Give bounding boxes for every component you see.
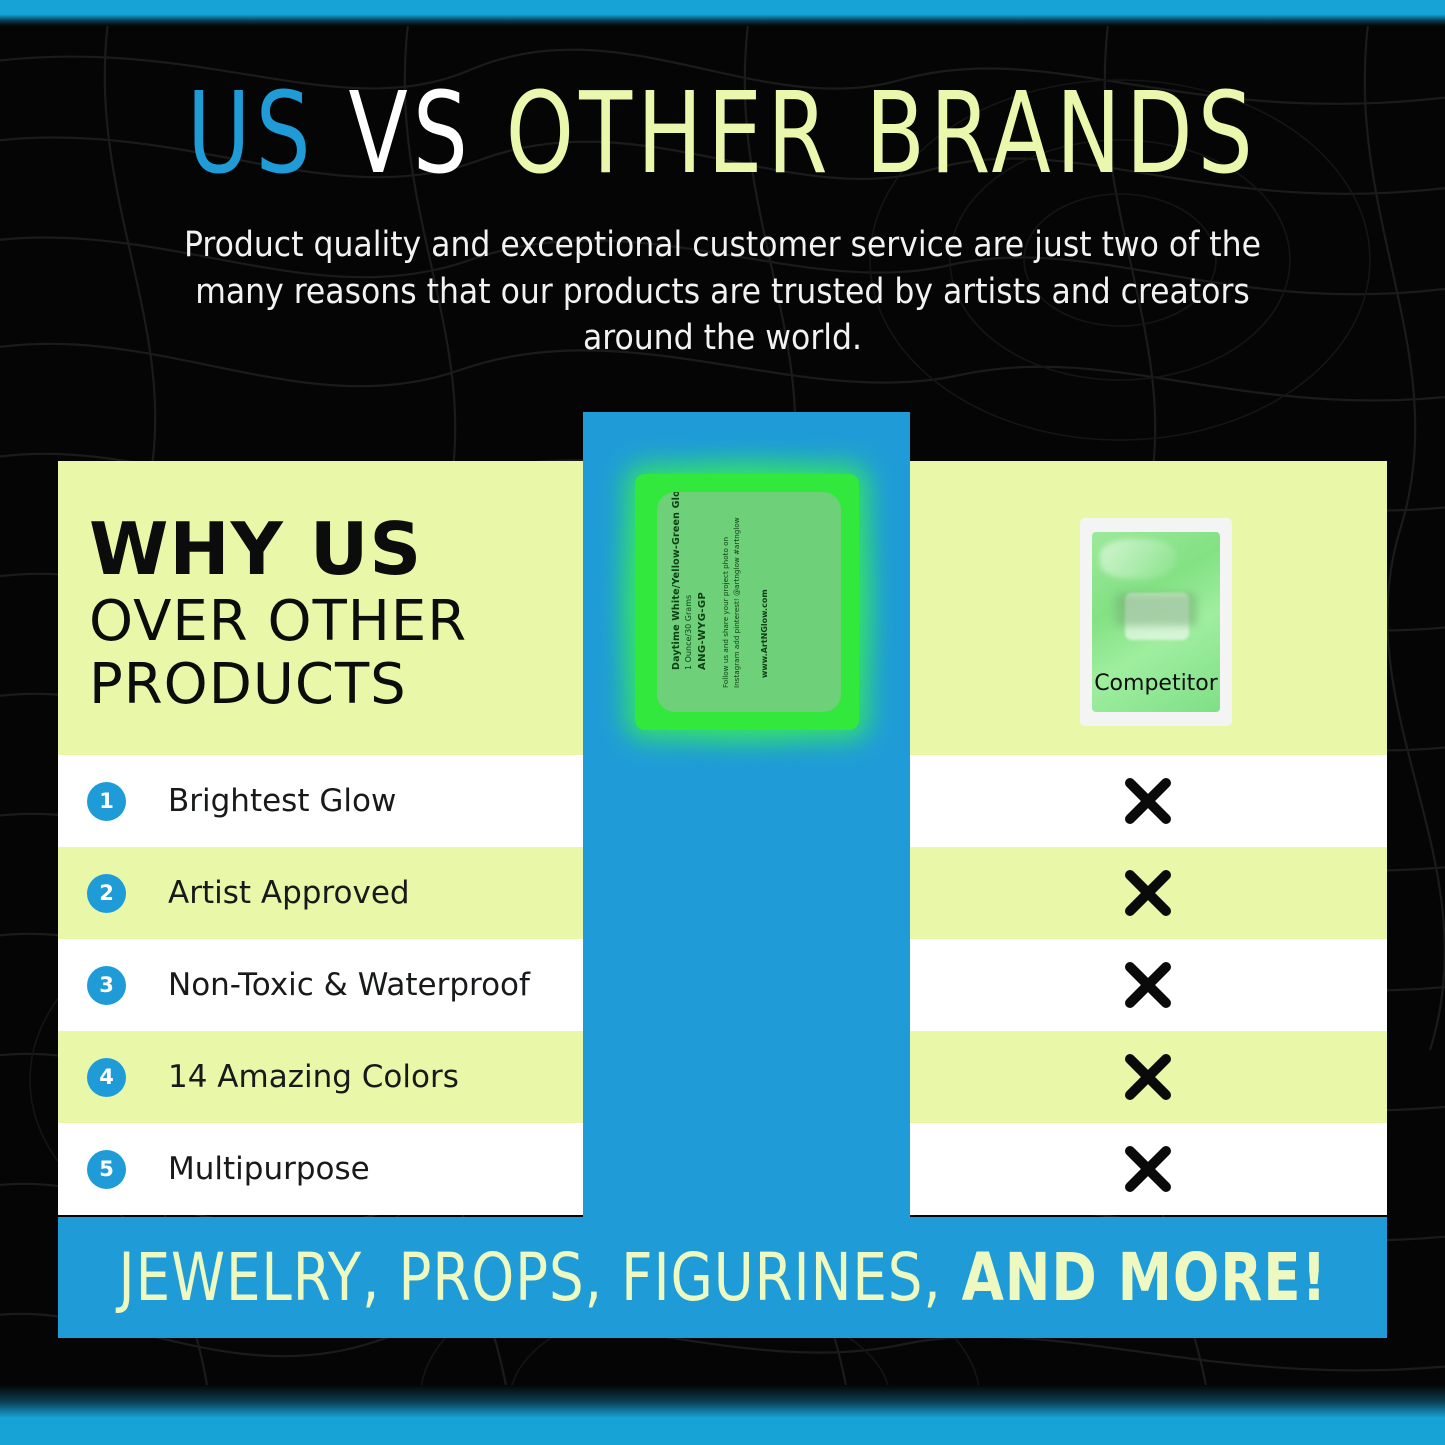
package-weight: 1 Ounce/30 Grams bbox=[684, 595, 693, 670]
our-product-column: Daytime White/Yellow-Green Glow Powder 1… bbox=[583, 412, 910, 1218]
why-us-heading: WHY US OVER OTHER PRODUCTS bbox=[89, 513, 467, 716]
bottom-banner: JEWELRY, PROPS, FIGURINES, AND MORE! bbox=[58, 1217, 1387, 1338]
package-product-name: Daytime White/Yellow-Green Glow Powder bbox=[671, 492, 682, 670]
x-icon bbox=[1121, 774, 1175, 828]
package-website: www.ArtNGlow.com bbox=[760, 589, 769, 678]
package-sku: ANG-WYG-GP bbox=[697, 592, 708, 670]
banner-text: JEWELRY, PROPS, FIGURINES, AND MORE! bbox=[118, 1239, 1327, 1316]
x-icon bbox=[1121, 1050, 1175, 1104]
competitor-x-cell bbox=[1068, 1123, 1228, 1215]
infographic-canvas: US VS OTHER BRANDS Product quality and e… bbox=[0, 0, 1445, 1445]
our-product-image: Daytime White/Yellow-Green Glow Powder 1… bbox=[635, 474, 859, 730]
feature-label: Multipurpose bbox=[168, 1151, 370, 1187]
subtitle: Product quality and exceptional customer… bbox=[163, 222, 1283, 362]
x-icon bbox=[1121, 866, 1175, 920]
title-word-other-brands: OTHER BRANDS bbox=[506, 69, 1258, 199]
package-label-face: Daytime White/Yellow-Green Glow Powder 1… bbox=[657, 492, 841, 712]
row-number-badge: 5 bbox=[87, 1150, 126, 1189]
feature-label: Artist Approved bbox=[168, 875, 410, 911]
competitor-x-cell bbox=[1068, 939, 1228, 1031]
title-word-us: US bbox=[187, 69, 316, 199]
feature-label: Brightest Glow bbox=[168, 783, 396, 819]
banner-text-bold: AND MORE! bbox=[941, 1239, 1327, 1316]
top-accent-bar bbox=[0, 0, 1445, 26]
competitor-product-image: Competitor bbox=[1080, 518, 1232, 726]
feature-label: 14 Amazing Colors bbox=[168, 1059, 459, 1095]
heading-line-over-other: OVER OTHER bbox=[89, 591, 467, 654]
row-number-badge: 4 bbox=[87, 1058, 126, 1097]
page-title: US VS OTHER BRANDS bbox=[101, 78, 1344, 190]
bag-sheen bbox=[1100, 539, 1177, 579]
glow-powder-package: Daytime White/Yellow-Green Glow Powder 1… bbox=[635, 474, 859, 730]
heading-line-why-us: WHY US bbox=[89, 513, 467, 585]
feature-label: Non-Toxic & Waterproof bbox=[168, 967, 530, 1003]
header: US VS OTHER BRANDS Product quality and e… bbox=[0, 78, 1445, 362]
package-social-line-2: Instagram add pinterest! @artnglow #artn… bbox=[732, 517, 741, 688]
bottom-accent-bar bbox=[0, 1385, 1445, 1445]
banner-text-light: JEWELRY, PROPS, FIGURINES, bbox=[118, 1239, 941, 1316]
competitor-x-cell bbox=[1068, 847, 1228, 939]
x-icon bbox=[1121, 958, 1175, 1012]
row-number-badge: 1 bbox=[87, 782, 126, 821]
package-social-line-1: Follow us and share your project photo o… bbox=[721, 537, 730, 688]
row-number-badge: 3 bbox=[87, 966, 126, 1005]
competitor-x-cell bbox=[1068, 1031, 1228, 1123]
competitor-caption: Competitor bbox=[1080, 671, 1232, 696]
title-word-vs: VS bbox=[348, 69, 473, 199]
row-number-badge: 2 bbox=[87, 874, 126, 913]
competitor-x-cell bbox=[1068, 755, 1228, 847]
competitor-label-blurred-text bbox=[1115, 593, 1197, 625]
heading-line-products: PRODUCTS bbox=[89, 654, 467, 717]
x-icon bbox=[1121, 1142, 1175, 1196]
